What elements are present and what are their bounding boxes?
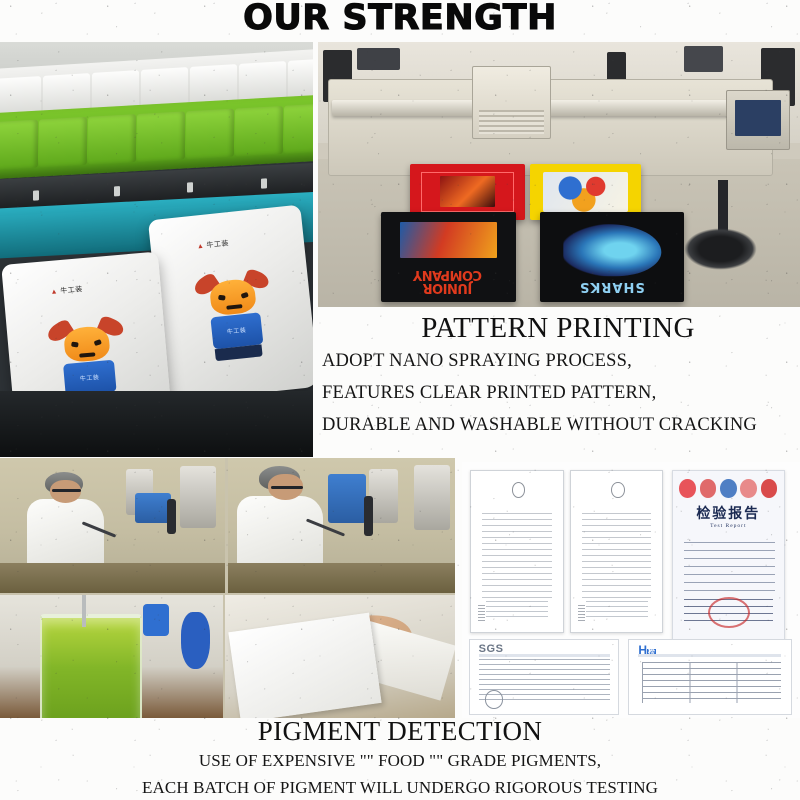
carousel-machine-base [0, 391, 313, 457]
tray-black-shirt-junior-company: JUNIOR COMPANY [381, 212, 516, 302]
report-subtitle: Test Report [673, 523, 785, 529]
report-field-rows [684, 542, 775, 593]
promo-page: OUR STRENGTH ▲ 牛工装 牛工装 ▲ 牛 [0, 0, 800, 800]
page-title: OUR STRENGTH [0, 0, 800, 38]
green-pigment-beaker [40, 614, 142, 718]
pigment-detection-heading: PIGMENT DETECTION [0, 716, 800, 747]
report-red-stamp [708, 597, 750, 628]
photo-lab-collage [0, 458, 455, 718]
report-accreditation-logos [679, 479, 777, 498]
shirt-chest-logo: ▲ 牛工装 [51, 284, 84, 297]
certificate-document-1 [470, 470, 563, 633]
h-test-report: H检 [628, 639, 792, 715]
printer-control-panel[interactable] [726, 90, 791, 150]
bull-mascot-print: 牛工装 [197, 271, 273, 363]
pattern-printing-line-3: DURABLE AND WASHABLE WITHOUT CRACKING [322, 409, 794, 441]
printer-carriage-head [472, 66, 551, 140]
lab-photo-scientist-left [0, 458, 225, 593]
pigment-detection-line-2: EACH BATCH OF PIGMENT WILL UNDERGO RIGOR… [0, 774, 800, 800]
photo-screen-printing-carousel: ▲ 牛工装 牛工装 ▲ 牛工装 牛工装 [0, 42, 313, 457]
test-report-document: 检验报告 Test Report [672, 470, 786, 641]
pigment-detection-line-1: USE OF EXPENSIVE "" FOOD "" GRADE PIGMEN… [0, 747, 800, 774]
certificate-document-2 [570, 470, 663, 633]
report-title: 检验报告 [673, 503, 785, 523]
pattern-printing-heading: PATTERN PRINTING [322, 312, 794, 345]
lab-photo-pigment-beaker [0, 595, 223, 719]
pigment-detection-text-block: PIGMENT DETECTION USE OF EXPENSIVE "" FO… [0, 716, 800, 800]
shirt-chest-logo: ▲ 牛工装 [196, 238, 229, 251]
stool-base [684, 228, 756, 270]
pattern-printing-line-2: FEATURES CLEAR PRINTED PATTERN, [322, 377, 794, 409]
tray-black-shirt-sharks: SHARKS [540, 212, 685, 302]
shirt-print-text: JUNIOR COMPANY [391, 268, 504, 294]
photo-dtg-flatbed-printer: JUNIOR COMPANY SHARKS [318, 42, 800, 307]
pattern-printing-text-block: PATTERN PRINTING ADOPT NANO SPRAYING PRO… [322, 312, 794, 441]
pattern-printing-line-1: ADOPT NANO SPRAYING PROCESS, [322, 345, 794, 377]
printed-shirt-back: ▲ 牛工装 牛工装 [147, 205, 313, 403]
lab-photo-hand-with-paper [225, 595, 455, 719]
shirt-print-text: SHARKS [554, 279, 670, 294]
photo-certificates-and-reports: 检验报告 Test Report SGS H检 [462, 462, 800, 718]
lab-photo-scientist-right [228, 458, 456, 593]
sgs-test-report: SGS [469, 639, 620, 715]
